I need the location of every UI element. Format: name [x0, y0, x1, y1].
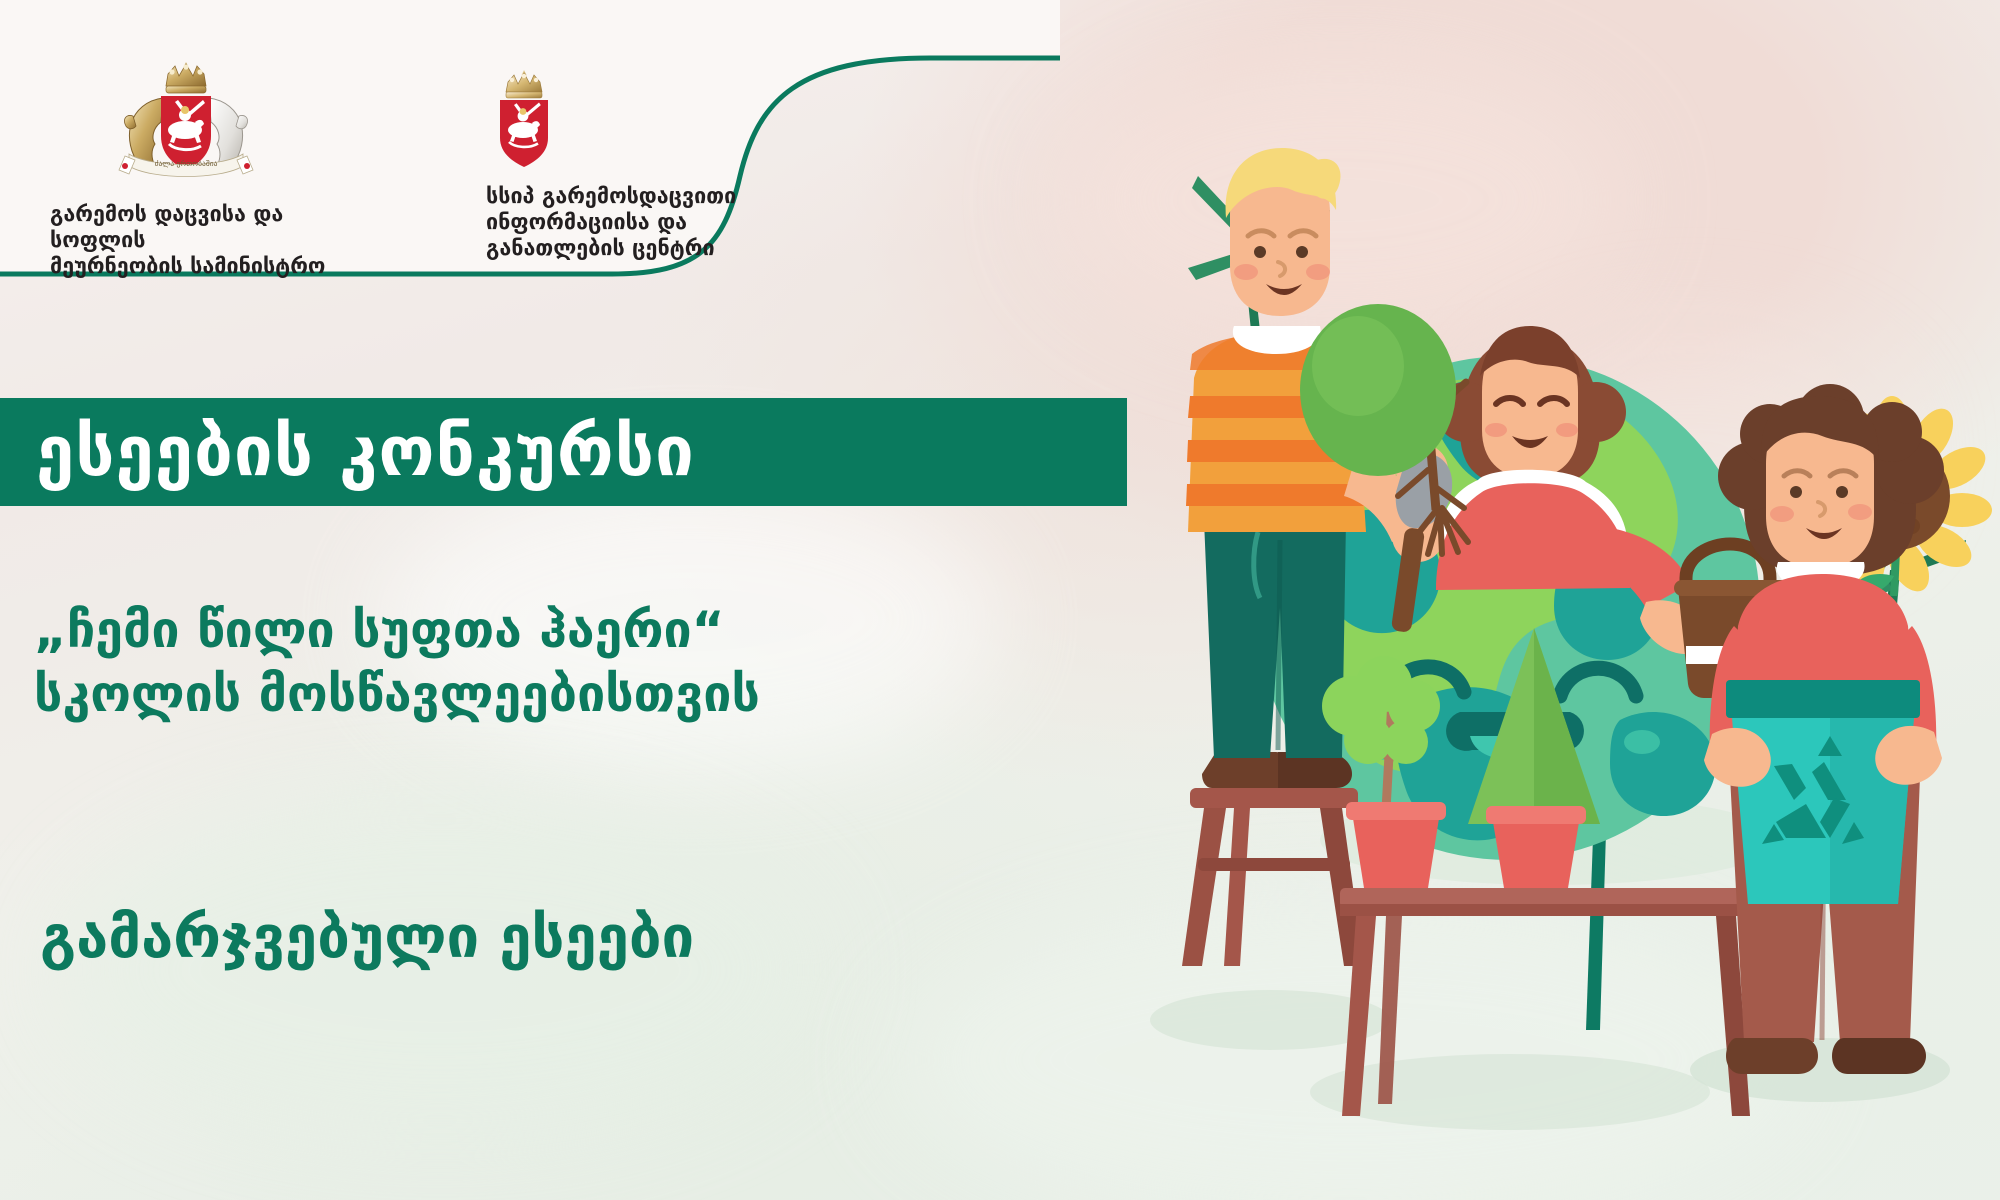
recycling-bin — [1726, 680, 1920, 904]
ministry-caption-line: მეურნეობის სამინისტრო — [50, 254, 336, 280]
wooden-stool — [1182, 788, 1364, 966]
flower-pot-left — [1352, 812, 1440, 888]
child-shoe-left — [1726, 1038, 1818, 1074]
bottom-heading-block: გამარჯვებული ესეები — [40, 908, 1240, 966]
subtitle-line-audience: სკოლის მოსწავლეებისთვის — [34, 662, 1214, 726]
subtitle-block: „ჩემი წილი სუფთა ჰაერი“ სკოლის მოსწავლეე… — [34, 598, 1214, 726]
recycling-bin-lid — [1726, 680, 1920, 718]
subtitle-line-theme: „ჩემი წილი სუფთა ჰაერი“ — [34, 598, 1214, 662]
logo-row: ძალა ერთობაშია გარემოს დაცვისა და სოფლის… — [0, 58, 900, 268]
ministry-caption-line: გარემოს დაცვისა და სოფლის — [50, 202, 336, 254]
center-logo: სსიპ გარემოსდაცვითი ინფორმაციისა და განა… — [480, 68, 840, 263]
globe-blush-right — [1624, 730, 1660, 754]
child-shoe-right — [1832, 1038, 1926, 1074]
center-caption-line: განათლების ცენტრი — [486, 236, 840, 262]
center-caption-line: სსიპ გარემოსდაცვითი — [486, 184, 840, 210]
child-holding-recycling-bin — [1704, 384, 1944, 1074]
poster-root: ძალა ერთობაშია გარემოს დაცვისა და სოფლის… — [0, 0, 2000, 1200]
center-logo-caption: სსიპ გარემოსდაცვითი ინფორმაციისა და განა… — [480, 184, 840, 263]
ministry-logo-caption: გარემოს დაცვისა და სოფლის მეურნეობის სამ… — [36, 202, 336, 281]
boy-pants — [1204, 520, 1346, 758]
flower-pot-right — [1492, 816, 1580, 888]
svg-text:ძალა ერთობაშია: ძალა ერთობაშია — [155, 159, 218, 168]
children-caring-for-earth-illustration — [1130, 140, 2000, 1200]
georgia-coat-of-arms-icon: ძალა ერთობაშია — [36, 58, 336, 190]
center-caption-line: ინფორმაციისა და — [486, 210, 840, 236]
page-title: ესეების კონკურსი — [0, 418, 695, 487]
ministry-logo: ძალა ერთობაშია გარემოს დაცვისა და სოფლის… — [36, 58, 336, 281]
ground-shadow — [1310, 1054, 1710, 1130]
winning-essays-heading: გამარჯვებული ესეები — [40, 908, 1240, 966]
georgia-small-shield-icon — [480, 68, 840, 172]
title-banner: ესეების კონკურსი — [0, 398, 1127, 506]
